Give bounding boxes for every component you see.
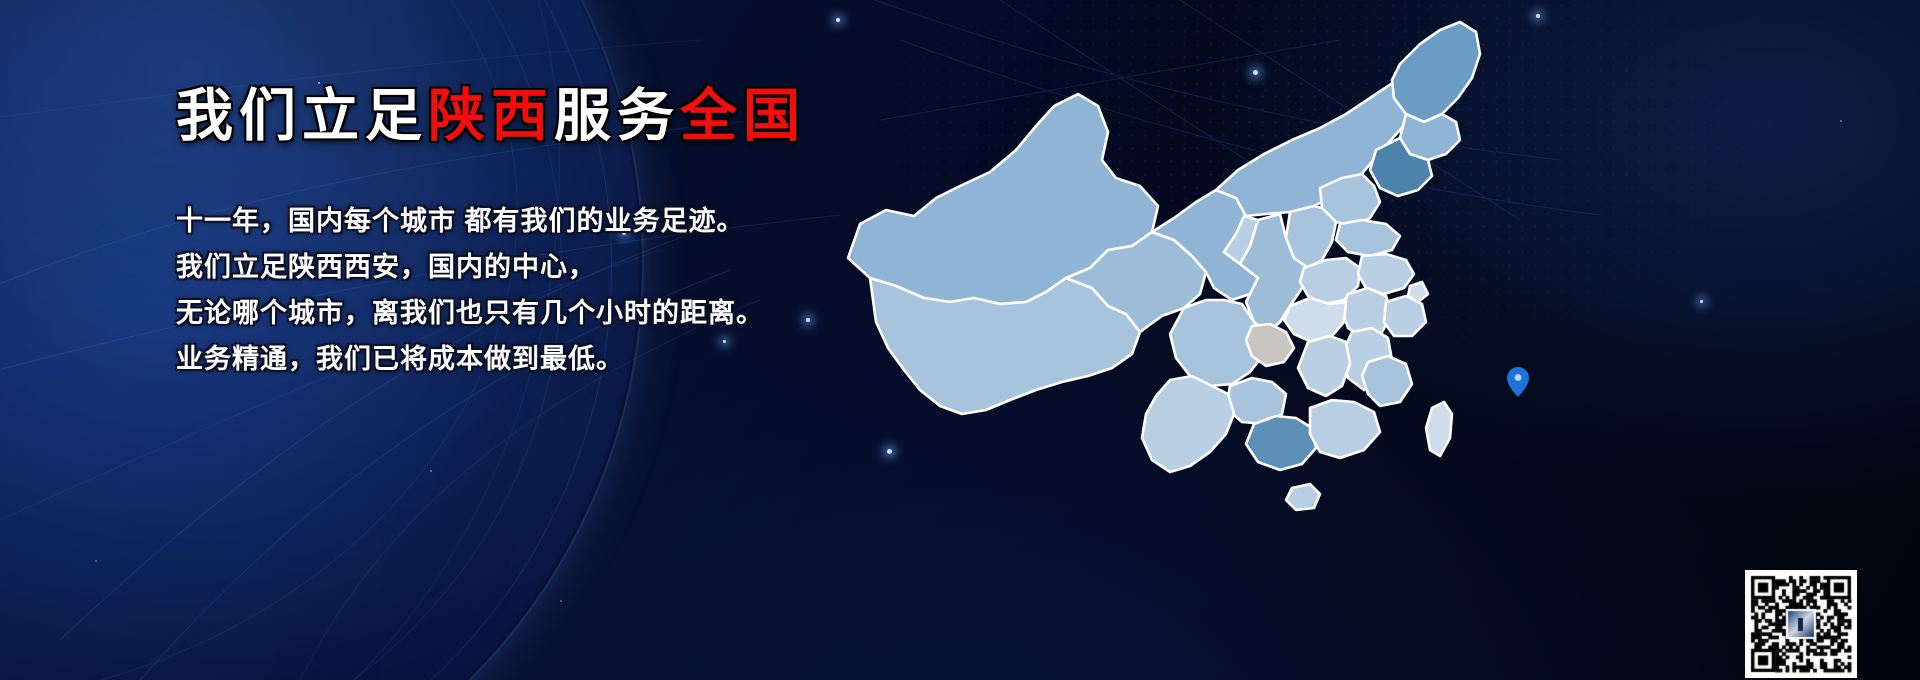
location-pin-icon: [1507, 367, 1529, 397]
headline-segment-1: 陕西: [428, 84, 554, 148]
page-title: 我们立足陕西服务全国: [176, 88, 806, 145]
province-guangdong: [1310, 400, 1380, 458]
province-fujian: [1362, 356, 1412, 406]
province-yunnan: [1142, 376, 1234, 472]
body-copy: 十一年，国内每个城市 都有我们的业务足迹。我们立足陕西西安，国内的中心，无论哪个…: [176, 198, 764, 382]
body-line-2: 无论哪个城市，离我们也只有几个小时的距离。: [176, 290, 764, 336]
province-taiwan: [1426, 402, 1452, 456]
star-icon: [806, 318, 810, 322]
province-hainan: [1286, 484, 1320, 510]
body-line-3: 业务精通，我们已将成本做到最低。: [176, 336, 764, 382]
banner-root: 我们立足陕西服务全国 十一年，国内每个城市 都有我们的业务足迹。我们立足陕西西安…: [0, 0, 1920, 680]
headline-segment-2: 服务: [554, 84, 680, 148]
body-line-1: 我们立足陕西西安，国内的中心，: [176, 244, 764, 290]
province-hubei: [1284, 298, 1346, 342]
province-shandong: [1336, 220, 1400, 256]
star-icon: [1840, 120, 1842, 122]
star-icon: [430, 470, 432, 472]
china-map: [840, 10, 1500, 680]
star-icon: [1536, 14, 1540, 18]
province-heilongjiang: [1392, 22, 1480, 122]
province-guangxi: [1246, 416, 1316, 470]
china-map-svg: [840, 10, 1500, 570]
star-icon: [1700, 300, 1703, 303]
headline-segment-0: 我们立足: [176, 84, 428, 148]
headline-segment-3: 全国: [680, 84, 806, 148]
qr-code[interactable]: [1745, 570, 1857, 678]
star-icon: [95, 560, 97, 562]
body-line-0: 十一年，国内每个城市 都有我们的业务足迹。: [176, 198, 764, 244]
province-zhejiang: [1384, 296, 1426, 336]
province-hunan: [1298, 336, 1350, 396]
star-icon: [560, 600, 562, 602]
